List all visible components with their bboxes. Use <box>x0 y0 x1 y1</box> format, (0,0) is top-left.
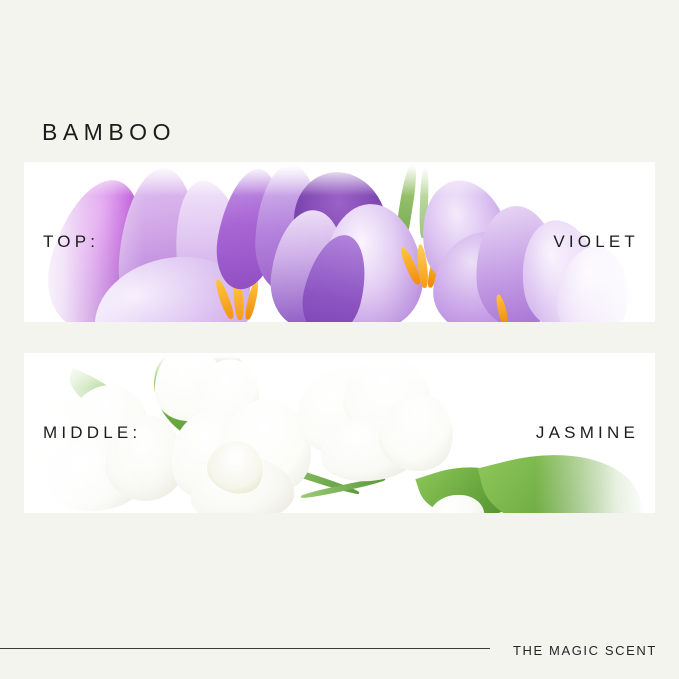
note-panel-top: TOP: VIOLET <box>24 162 655 322</box>
note-value-top: VIOLET <box>553 232 639 252</box>
page-root: BAMBOO <box>0 0 679 679</box>
brand-name: THE MAGIC SCENT <box>513 643 657 658</box>
page-title: BAMBOO <box>42 119 176 146</box>
footer-divider <box>0 648 490 649</box>
note-value-middle: JASMINE <box>536 423 639 443</box>
note-label-top: TOP: <box>43 232 99 252</box>
note-label-middle: MIDDLE: <box>43 423 141 443</box>
note-panel-middle: MIDDLE: JASMINE <box>24 353 655 513</box>
